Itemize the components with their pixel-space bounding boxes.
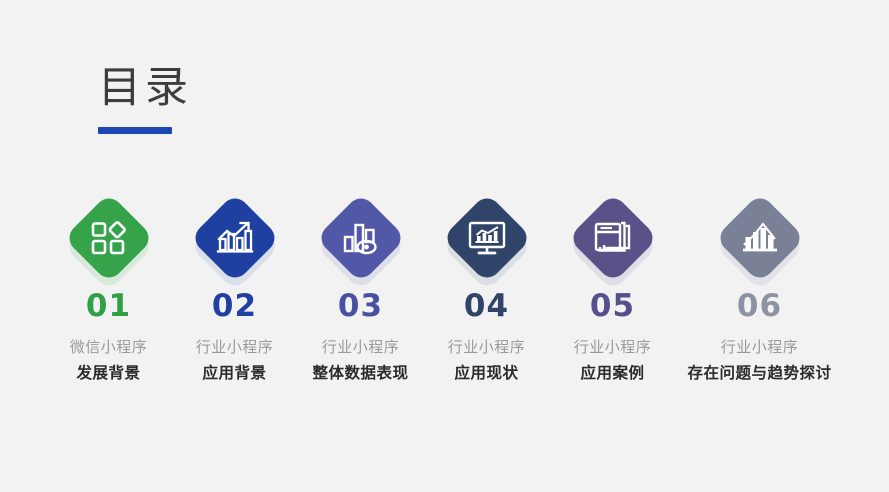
toc-item-02[interactable]: 02 行业小程序 应用背景 [172, 192, 298, 384]
caption-top-04: 行业小程序 [448, 337, 526, 358]
caption-top-03: 行业小程序 [312, 337, 408, 358]
toc-item-06[interactable]: 06 行业小程序 存在问题与趋势探讨 [676, 192, 844, 384]
item-number-04: 04 [464, 288, 509, 324]
item-caption-04: 行业小程序 应用现状 [448, 337, 526, 384]
page-title: 目录 [98, 62, 192, 114]
toc-items-row: 01 微信小程序 发展背景 02 行业小 [0, 192, 889, 392]
caption-top-05: 行业小程序 [574, 337, 652, 358]
caption-bottom-03: 整体数据表现 [312, 362, 408, 384]
item-caption-02: 行业小程序 应用背景 [196, 337, 274, 384]
diamond-badge-02 [189, 192, 281, 284]
item-number-01: 01 [86, 288, 131, 324]
caption-bottom-02: 应用背景 [196, 362, 274, 384]
caption-top-06: 行业小程序 [687, 337, 831, 358]
item-number-05: 05 [590, 288, 635, 324]
title-underline [98, 127, 172, 134]
item-number-06: 06 [737, 288, 782, 324]
diamond-badge-04 [441, 192, 533, 284]
caption-top-02: 行业小程序 [196, 337, 274, 358]
caption-bottom-04: 应用现状 [448, 362, 526, 384]
caption-bottom-01: 发展背景 [70, 362, 148, 384]
bar-chart-trend-line-icon [738, 216, 782, 260]
caption-bottom-06: 存在问题与趋势探讨 [687, 362, 831, 384]
caption-top-01: 微信小程序 [70, 337, 148, 358]
caption-bottom-05: 应用案例 [574, 362, 652, 384]
bar-chart-eye-icon [339, 216, 383, 260]
diamond-badge-06 [714, 192, 806, 284]
toc-item-04[interactable]: 04 行业小程序 应用现状 [424, 192, 550, 384]
bar-chart-growth-arrow-icon [213, 216, 257, 260]
toc-item-05[interactable]: 05 行业小程序 应用案例 [550, 192, 676, 384]
item-caption-05: 行业小程序 应用案例 [574, 337, 652, 384]
item-number-03: 03 [338, 288, 383, 324]
toc-item-01[interactable]: 01 微信小程序 发展背景 [46, 192, 172, 384]
item-number-02: 02 [212, 288, 257, 324]
toc-item-03[interactable]: 03 行业小程序 整体数据表现 [298, 192, 424, 384]
monitor-chart-icon [465, 216, 509, 260]
item-caption-01: 微信小程序 发展背景 [70, 337, 148, 384]
diamond-badge-01 [63, 192, 155, 284]
diamond-badge-05 [567, 192, 659, 284]
grid-blocks-icon [87, 216, 131, 260]
item-caption-06: 行业小程序 存在问题与趋势探讨 [687, 337, 831, 384]
title-block: 目录 [98, 62, 192, 134]
diamond-badge-03 [315, 192, 407, 284]
item-caption-03: 行业小程序 整体数据表现 [312, 337, 408, 384]
stacked-windows-icon [591, 216, 635, 260]
